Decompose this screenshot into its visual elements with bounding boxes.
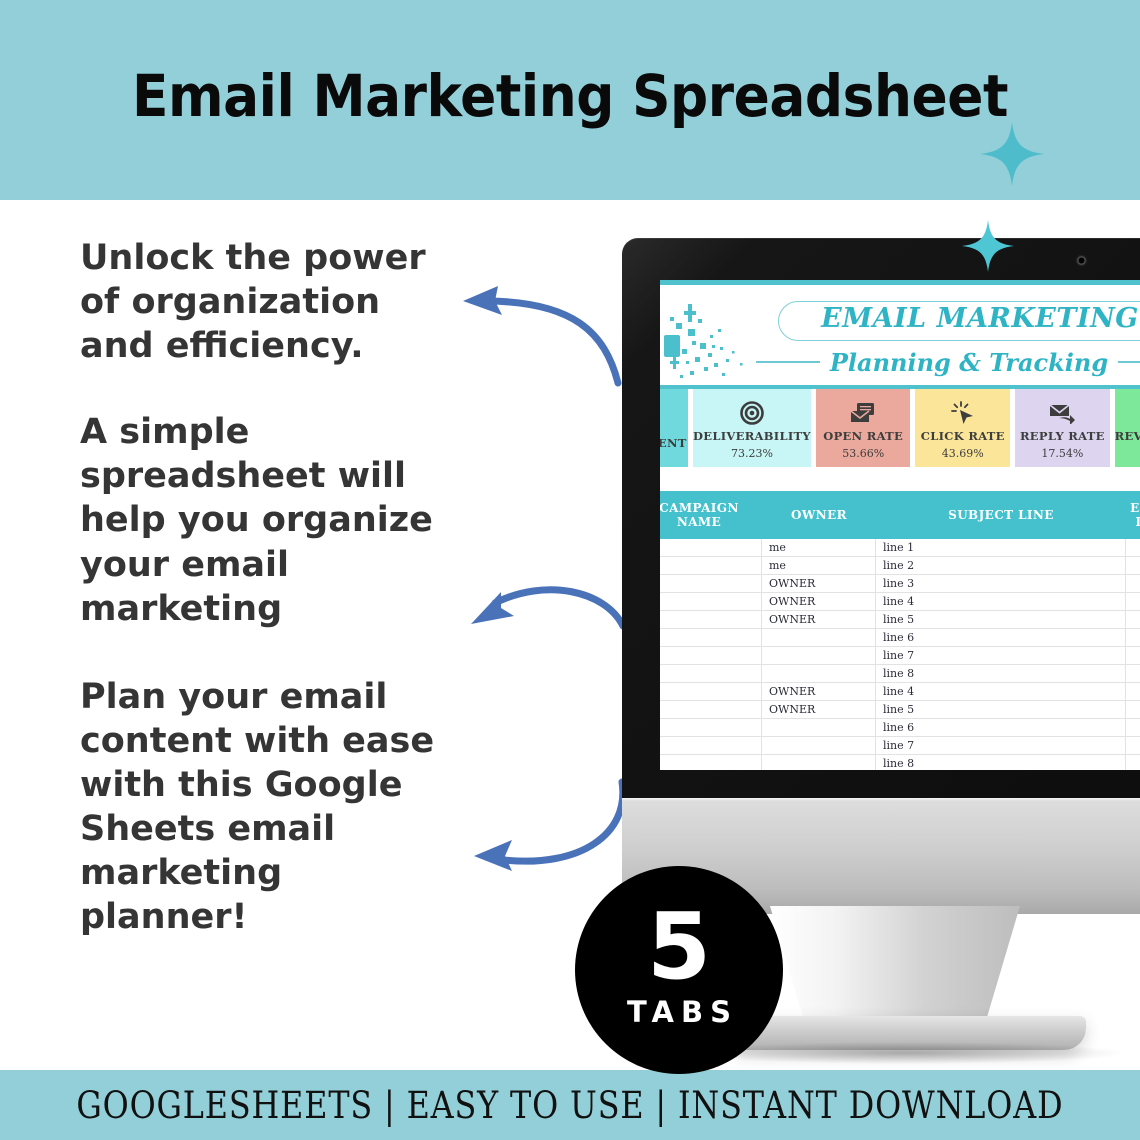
cell-email-link[interactable] (1126, 557, 1140, 574)
table-row[interactable]: OWNERline 3 (660, 575, 1140, 593)
cell-owner[interactable]: OWNER (762, 593, 876, 610)
cell-campaign-name[interactable] (660, 611, 762, 628)
kpi-value-click-rate: 43.69% (942, 447, 984, 460)
table-row[interactable]: line 6 (660, 629, 1140, 647)
badge-number: 5 (647, 905, 711, 990)
kpi-card-click-rate[interactable]: CLICK RATE 43.69% (915, 389, 1010, 467)
monitor-mockup: EMAIL MARKETING Planning & Tracking SENT (622, 238, 1140, 798)
copy-block-3: Plan your email content with ease with t… (80, 675, 440, 940)
cell-campaign-name[interactable] (660, 593, 762, 610)
table-spacer (660, 467, 1140, 491)
cell-email-link[interactable] (1126, 593, 1140, 610)
page-title: Email Marketing Spreadsheet (46, 62, 1095, 130)
kpi-value-reply-rate: 17.54% (1041, 447, 1083, 460)
cell-owner[interactable]: OWNER (762, 701, 876, 718)
kpi-card-reply-rate[interactable]: REPLY RATE 17.54% (1015, 389, 1110, 467)
monitor-stand-neck (770, 906, 1020, 1024)
table-row[interactable]: line 8 (660, 665, 1140, 683)
kpi-card-row: SENT DELIVERABILITY 73.23% (660, 389, 1140, 467)
cell-owner[interactable]: me (762, 539, 876, 556)
cell-email-link[interactable] (1126, 629, 1140, 646)
spreadsheet-subtitle: Planning & Tracking (830, 348, 1108, 377)
cell-owner[interactable]: OWNER (762, 611, 876, 628)
cell-subject-line[interactable]: line 8 (876, 665, 1126, 682)
cell-subject-line[interactable]: line 3 (876, 575, 1126, 592)
cell-email-link[interactable] (1126, 647, 1140, 664)
kpi-label-reply-rate: REPLY RATE (1020, 429, 1105, 443)
cell-campaign-name[interactable] (660, 665, 762, 682)
cell-subject-line[interactable]: line 4 (876, 683, 1126, 700)
cell-subject-line[interactable]: line 6 (876, 629, 1126, 646)
table-body: meline 1meline 2OWNERline 3OWNERline 4OW… (660, 539, 1140, 770)
kpi-label-revenue: REVENUE (1115, 429, 1140, 443)
cell-subject-line[interactable]: line 1 (876, 539, 1126, 556)
kpi-card-sent[interactable]: SENT (660, 389, 688, 467)
stand-shadow (692, 1042, 1122, 1064)
cell-owner[interactable]: me (762, 557, 876, 574)
spreadsheet-header: EMAIL MARKETING Planning & Tracking (660, 285, 1140, 383)
spreadsheet-subtitle-row: Planning & Tracking (756, 345, 1140, 379)
table-header-row: CAMPAIGN NAME OWNER SUBJECT LINE EMAIL L… (660, 491, 1140, 539)
kpi-card-open-rate[interactable]: OPEN RATE 53.66% (816, 389, 911, 467)
kpi-label-sent: SENT (660, 436, 687, 450)
kpi-value-deliverability: 73.23% (731, 447, 773, 460)
table-row[interactable]: OWNERline 4 (660, 593, 1140, 611)
cell-campaign-name[interactable] (660, 755, 762, 770)
cell-campaign-name[interactable] (660, 557, 762, 574)
spreadsheet-screen[interactable]: EMAIL MARKETING Planning & Tracking SENT (660, 280, 1140, 770)
header-banner: Email Marketing Spreadsheet (0, 0, 1140, 200)
cell-campaign-name[interactable] (660, 719, 762, 736)
cell-campaign-name[interactable] (660, 629, 762, 646)
cell-campaign-name[interactable] (660, 701, 762, 718)
cell-subject-line[interactable]: line 5 (876, 611, 1126, 628)
badge-label: TABS (627, 995, 738, 1029)
kpi-label-deliverability: DELIVERABILITY (693, 429, 811, 443)
rule-left (756, 361, 820, 363)
promo-graphic: Email Marketing Spreadsheet Unlock the p… (0, 0, 1140, 1140)
table-row[interactable]: line 8 (660, 755, 1140, 770)
cell-campaign-name[interactable] (660, 647, 762, 664)
cell-subject-line[interactable]: line 7 (876, 647, 1126, 664)
cell-subject-line[interactable]: line 5 (876, 701, 1126, 718)
cell-email-link[interactable] (1126, 755, 1140, 770)
cell-subject-line[interactable]: line 6 (876, 719, 1126, 736)
sparkle-icon-screen (962, 220, 1014, 272)
table-row[interactable]: line 7 (660, 647, 1140, 665)
target-icon (740, 400, 764, 426)
column-header-subject-line: SUBJECT LINE (876, 508, 1126, 522)
cell-campaign-name[interactable] (660, 737, 762, 754)
cell-email-link[interactable] (1126, 683, 1140, 700)
cell-owner[interactable] (762, 755, 876, 770)
copy-block-2: A simple spreadsheet will help you organ… (80, 410, 440, 630)
table-row[interactable]: meline 2 (660, 557, 1140, 575)
webcam-icon (1077, 256, 1086, 265)
pointer-arrow-3 (452, 768, 632, 883)
cell-campaign-name[interactable] (660, 539, 762, 556)
cell-email-link[interactable] (1126, 665, 1140, 682)
column-header-email-link: EMAIL LINK (1126, 501, 1140, 530)
click-cursor-icon (951, 400, 975, 426)
kpi-label-click-rate: CLICK RATE (921, 429, 1005, 443)
table-row[interactable]: line 6 (660, 719, 1140, 737)
cell-campaign-name[interactable] (660, 575, 762, 592)
cell-email-link[interactable] (1126, 701, 1140, 718)
table-row[interactable]: meline 1 (660, 539, 1140, 557)
cell-subject-line[interactable]: line 4 (876, 593, 1126, 610)
cell-email-link[interactable] (1126, 737, 1140, 754)
cell-subject-line[interactable]: line 2 (876, 557, 1126, 574)
table-row[interactable]: OWNERline 5 (660, 701, 1140, 719)
table-row[interactable]: OWNERline 5 (660, 611, 1140, 629)
cell-owner[interactable] (762, 719, 876, 736)
rule-right (1118, 361, 1140, 363)
sparkle-icon (980, 122, 1044, 186)
spreadsheet-title: EMAIL MARKETING (778, 303, 1140, 334)
cell-owner[interactable] (762, 629, 876, 646)
cell-subject-line[interactable]: line 8 (876, 755, 1126, 770)
kpi-card-deliverability[interactable]: DELIVERABILITY 73.23% (693, 389, 811, 467)
cell-subject-line[interactable]: line 7 (876, 737, 1126, 754)
marketing-copy: Unlock the power of organization and eff… (80, 236, 440, 981)
footer-text: GOOGLESHEETS | EASY TO USE | INSTANT DOW… (76, 1084, 1063, 1127)
pointer-arrow-2 (455, 578, 625, 663)
table-row[interactable]: line 7 (660, 737, 1140, 755)
cell-owner[interactable] (762, 737, 876, 754)
cell-email-link[interactable] (1126, 575, 1140, 592)
kpi-card-revenue[interactable]: REVENUE $8 (1115, 389, 1140, 467)
cell-owner[interactable]: OWNER (762, 683, 876, 700)
cell-owner[interactable] (762, 647, 876, 664)
copy-block-1: Unlock the power of organization and eff… (80, 236, 440, 368)
cell-owner[interactable]: OWNER (762, 575, 876, 592)
kpi-label-open-rate: OPEN RATE (823, 429, 903, 443)
table-row[interactable]: OWNERline 4 (660, 683, 1140, 701)
cell-owner[interactable] (762, 665, 876, 682)
column-header-campaign-name: CAMPAIGN NAME (660, 501, 762, 530)
column-header-owner: OWNER (762, 508, 876, 522)
pointer-arrow-1 (455, 280, 625, 385)
reply-envelope-icon (1048, 400, 1076, 426)
cell-campaign-name[interactable] (660, 683, 762, 700)
cell-email-link[interactable] (1126, 539, 1140, 556)
kpi-value-open-rate: 53.66% (842, 447, 884, 460)
cell-email-link[interactable] (1126, 719, 1140, 736)
tabs-count-badge: 5 TABS (575, 866, 783, 1074)
footer-banner: GOOGLESHEETS | EASY TO USE | INSTANT DOW… (0, 1070, 1140, 1140)
open-envelope-icon (850, 400, 876, 426)
cell-email-link[interactable] (1126, 611, 1140, 628)
